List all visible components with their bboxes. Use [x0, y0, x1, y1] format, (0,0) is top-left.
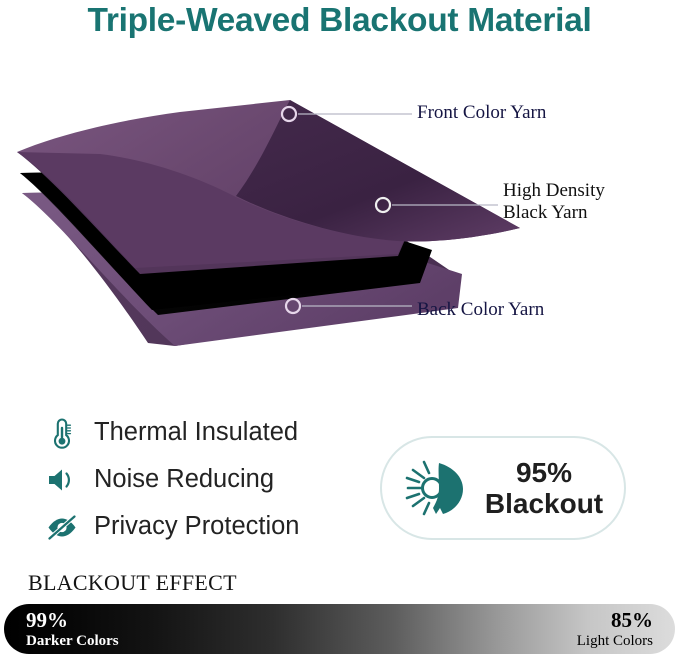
sun-behind-curtain-icon	[398, 455, 472, 521]
fabric-layers-diagram	[0, 78, 679, 378]
feature-item-thermal: Thermal Insulated	[44, 410, 374, 455]
feature-label-privacy: Privacy Protection	[94, 512, 300, 541]
callout-label-black-line1: High Density	[503, 180, 605, 201]
blackout-label: Blackout	[485, 488, 603, 519]
eye-slash-icon	[44, 510, 80, 544]
feature-label-noise: Noise Reducing	[94, 465, 274, 494]
feature-item-privacy: Privacy Protection	[44, 504, 374, 549]
blackout-badge: 95% Blackout	[380, 436, 626, 540]
feature-item-noise: Noise Reducing	[44, 457, 374, 502]
blackout-effect-title: BLACKOUT EFFECT	[28, 570, 237, 596]
light-colors-percent: 85%	[577, 610, 653, 631]
callout-label-front-color-yarn: Front Color Yarn	[417, 102, 546, 124]
darker-colors-label: Darker Colors	[26, 633, 119, 650]
speaker-icon	[44, 463, 80, 497]
gradient-bar-right-stat: 85% Light Colors	[577, 610, 653, 650]
feature-label-thermal: Thermal Insulated	[94, 418, 298, 447]
light-colors-label: Light Colors	[577, 633, 653, 650]
thermometer-icon	[44, 416, 80, 450]
blackout-percent: 95%	[516, 457, 572, 488]
feature-list: Thermal Insulated Noise Reducing Privacy…	[44, 410, 374, 551]
callout-label-black-line2: Black Yarn	[503, 202, 587, 223]
blackout-badge-text: 95% Blackout	[472, 457, 624, 519]
blackout-effect-section: BLACKOUT EFFECT 99% Darker Colors 85% Li…	[0, 566, 679, 656]
page-title: Triple-Weaved Blackout Material	[0, 2, 679, 40]
callout-label-back-color-yarn: Back Color Yarn	[417, 299, 544, 321]
fabric-layers-svg	[0, 78, 679, 378]
blackout-gradient-bar: 99% Darker Colors 85% Light Colors	[4, 604, 675, 654]
darker-colors-percent: 99%	[26, 610, 119, 631]
callout-label-high-density-black-yarn: High Density Black Yarn	[503, 180, 605, 224]
gradient-bar-left-stat: 99% Darker Colors	[26, 610, 119, 650]
